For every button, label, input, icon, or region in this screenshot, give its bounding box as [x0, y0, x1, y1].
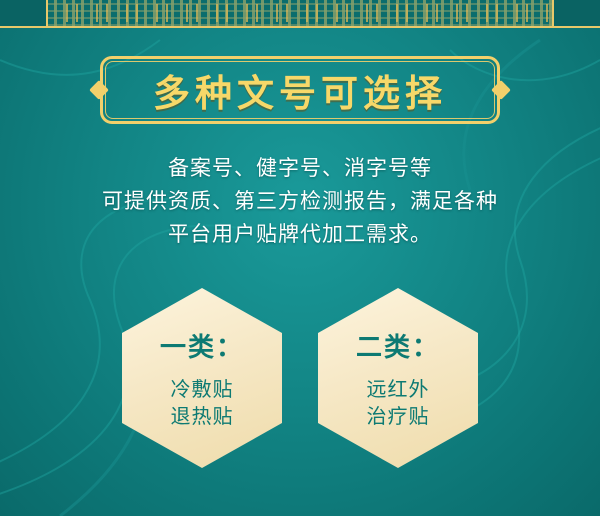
category-card-2[interactable]: 二类： 远红外 治疗贴	[318, 288, 478, 468]
description-line-2: 可提供资质、第三方检测报告，满足各种	[0, 185, 600, 218]
category-1-item-2: 退热贴	[171, 403, 234, 430]
band-corner-right	[552, 0, 600, 28]
top-ornament-band	[0, 0, 600, 28]
poster-canvas: 多种文号可选择 备案号、健字号、消字号等 可提供资质、第三方检测报告，满足各种 …	[0, 0, 600, 516]
category-hexagons: 一类： 冷敷贴 退热贴 二类： 远红外 治疗贴	[0, 288, 600, 468]
category-1-heading: 一类：	[160, 327, 244, 364]
description-block: 备案号、健字号、消字号等 可提供资质、第三方检测报告，满足各种 平台用户贴牌代加…	[0, 152, 600, 251]
title-plaque: 多种文号可选择	[100, 56, 500, 124]
category-card-1[interactable]: 一类： 冷敷贴 退热贴	[122, 288, 282, 468]
page-title: 多种文号可选择	[100, 56, 500, 124]
band-key-pattern	[0, 4, 600, 22]
category-1-item-1: 冷敷贴	[171, 376, 234, 403]
band-corner-left	[0, 0, 48, 28]
description-line-1: 备案号、健字号、消字号等	[0, 152, 600, 185]
category-2-heading: 二类：	[356, 327, 440, 364]
category-2-item-1: 远红外	[367, 376, 430, 403]
category-2-item-2: 治疗贴	[367, 403, 430, 430]
description-line-3: 平台用户贴牌代加工需求。	[0, 218, 600, 251]
